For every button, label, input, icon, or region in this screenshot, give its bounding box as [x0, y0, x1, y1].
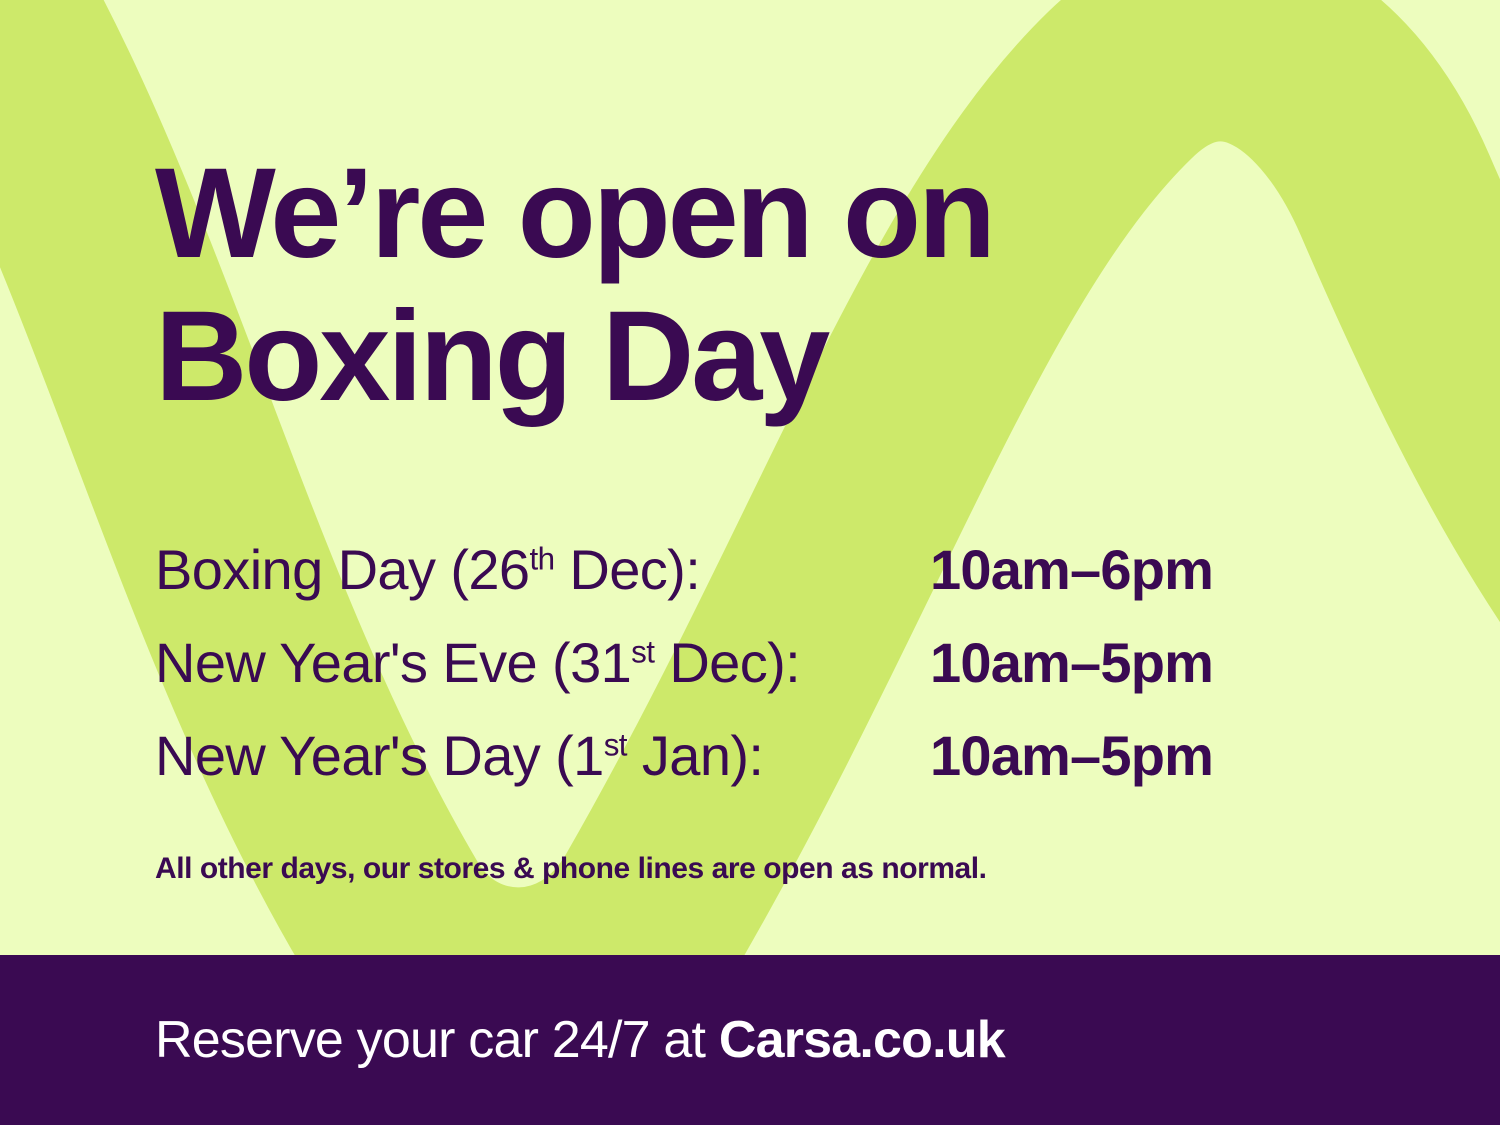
hours-label: New Year's Day (1st Jan): [155, 723, 930, 788]
hours-label-ordinal: st [631, 634, 654, 669]
hours-label-ordinal: st [604, 727, 627, 762]
hours-value: 10am–6pm [930, 537, 1213, 602]
page-title: We’re open on Boxing Day [155, 142, 1355, 429]
hours-row: New Year's Day (1st Jan): 10am–5pm [155, 723, 1355, 816]
headline-line-2: Boxing Day [155, 285, 1355, 428]
footnote-text: All other days, our stores & phone lines… [155, 852, 987, 886]
hours-label: New Year's Eve (31st Dec): [155, 630, 930, 695]
headline-line-1: We’re open on [155, 142, 1355, 285]
footer-cta: Reserve your car 24/7 at Carsa.co.uk [155, 1010, 1005, 1070]
hours-row: New Year's Eve (31st Dec): 10am–5pm [155, 630, 1355, 723]
hours-label-text: New Year's Eve (31 [155, 631, 631, 694]
opening-hours-list: Boxing Day (26th Dec): 10am–6pm New Year… [155, 537, 1355, 816]
hours-label-ordinal: th [529, 541, 554, 576]
hours-label-text: Boxing Day (26 [155, 538, 529, 601]
hours-label-suffix: Jan): [627, 724, 763, 787]
main-content: We’re open on Boxing Day Boxing Day (26t… [0, 0, 1500, 955]
hours-label-text: New Year's Day (1 [155, 724, 604, 787]
hours-label: Boxing Day (26th Dec): [155, 537, 930, 602]
footer-cta-prefix: Reserve your car 24/7 at [155, 1011, 719, 1069]
brand-website[interactable]: Carsa.co.uk [719, 1011, 1005, 1069]
hours-row: Boxing Day (26th Dec): 10am–6pm [155, 537, 1355, 630]
promo-banner: We’re open on Boxing Day Boxing Day (26t… [0, 0, 1500, 1125]
hours-value: 10am–5pm [930, 723, 1213, 788]
hours-label-suffix: Dec): [554, 538, 700, 601]
hours-value: 10am–5pm [930, 630, 1213, 695]
footer-bar: Reserve your car 24/7 at Carsa.co.uk [0, 955, 1500, 1125]
hours-label-suffix: Dec): [654, 631, 800, 694]
